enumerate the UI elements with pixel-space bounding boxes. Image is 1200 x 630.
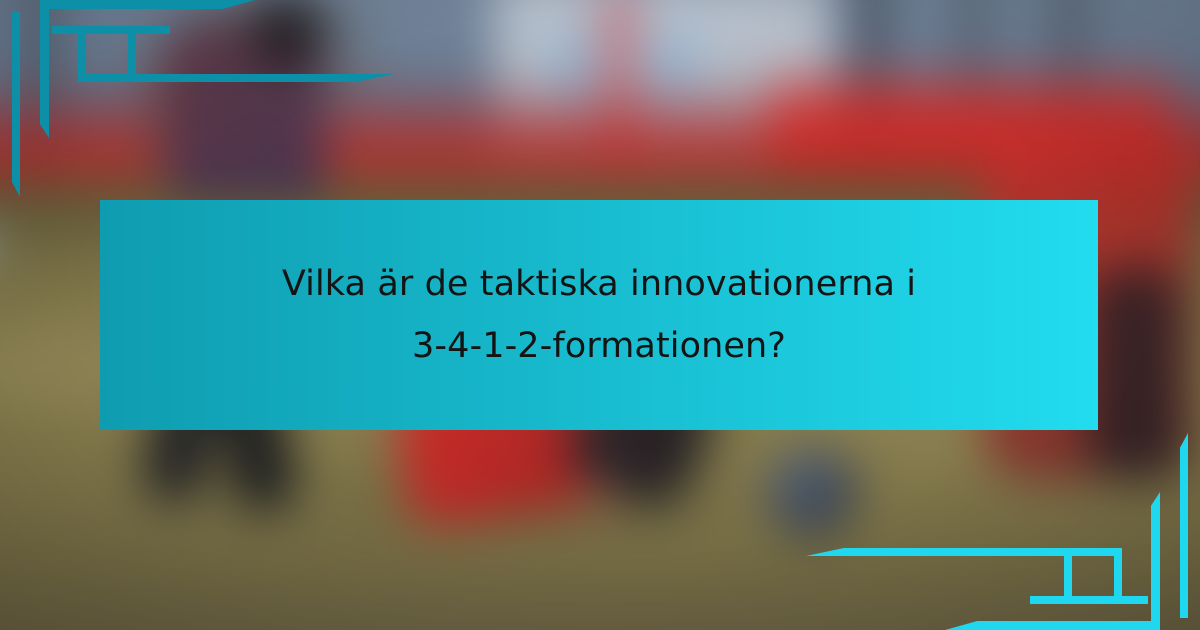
- bracket-br-square-top: [1064, 548, 1122, 556]
- bracket-br-vertical-inner: [1151, 492, 1160, 630]
- headline-banner: Vilka är de taktiska innovationerna i 3-…: [100, 200, 1098, 430]
- bracket-tl-horizontal-mid: [52, 26, 170, 34]
- corner-bracket-top-left-icon: [0, 0, 200, 210]
- corner-bracket-bottom-right-icon: [990, 420, 1200, 630]
- bracket-br-square-left: [1114, 548, 1122, 604]
- bracket-tl-vertical-inner: [40, 0, 49, 138]
- bracket-br-horizontal-mid: [1030, 596, 1148, 604]
- bracket-br-horizontal-bottom: [945, 621, 1160, 630]
- bracket-tl-vertical-outer: [12, 12, 20, 197]
- headline-line-2: 3-4-1-2-formationen?: [412, 315, 786, 377]
- bracket-br-vertical-outer: [1180, 433, 1188, 618]
- bracket-tl-square-bottom: [78, 74, 136, 82]
- social-card: Vilka är de taktiska innovationerna i 3-…: [0, 0, 1200, 630]
- headline-line-1: Vilka är de taktiska innovationerna i: [282, 253, 916, 315]
- bracket-tl-horizontal-top: [40, 0, 255, 9]
- bracket-br-square-right: [1064, 548, 1072, 604]
